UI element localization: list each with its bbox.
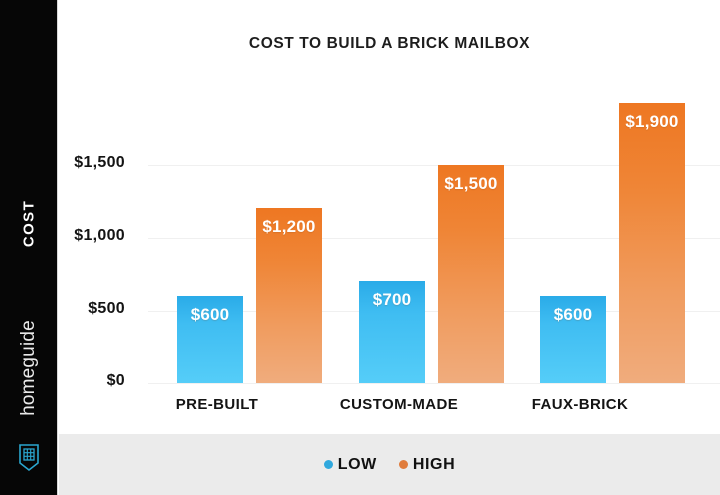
legend-item-low[interactable]: LOW — [324, 456, 377, 474]
bar-value-label: $1,500 — [432, 174, 510, 194]
bar-value-label: $700 — [353, 290, 431, 310]
legend-swatch-high-icon — [399, 460, 408, 469]
home-grid-icon — [16, 442, 42, 472]
chart-panel: COST TO BUILD A BRICK MAILBOX $1,500 $1,… — [59, 0, 720, 495]
x-axis-label-custommade: CUSTOM-MADE — [309, 396, 489, 413]
bar-custommade-high[interactable]: $1,500 — [438, 165, 504, 383]
bar-prebuilt-high[interactable]: $1,200 — [256, 208, 322, 383]
bar-prebuilt-low[interactable]: $600 — [177, 296, 243, 383]
legend-label-high: HIGH — [413, 456, 455, 474]
y-axis-title: COST — [21, 195, 38, 253]
legend-item-high[interactable]: HIGH — [399, 456, 455, 474]
bar-fauxbrick-low[interactable]: $600 — [540, 296, 606, 383]
gridline-0 — [148, 383, 720, 384]
x-axis-label-prebuilt: PRE-BUILT — [127, 396, 307, 413]
bar-value-label: $600 — [534, 305, 612, 325]
brand-name: homeguide — [18, 308, 40, 428]
bar-custommade-low[interactable]: $700 — [359, 281, 425, 383]
x-axis-label-fauxbrick: FAUX-BRICK — [490, 396, 670, 413]
chart-legend: LOW HIGH — [59, 434, 720, 495]
bar-value-label: $600 — [171, 305, 249, 325]
bar-fauxbrick-high[interactable]: $1,900 — [619, 103, 685, 383]
sidebar: COST homeguide — [0, 0, 58, 495]
bar-value-label: $1,200 — [250, 217, 328, 237]
plot-area: $1,500 $1,000 $500 $0 $600 $1,200 $700 $… — [59, 0, 720, 495]
legend-swatch-low-icon — [324, 460, 333, 469]
bar-value-label: $1,900 — [613, 112, 691, 132]
legend-label-low: LOW — [338, 456, 377, 474]
